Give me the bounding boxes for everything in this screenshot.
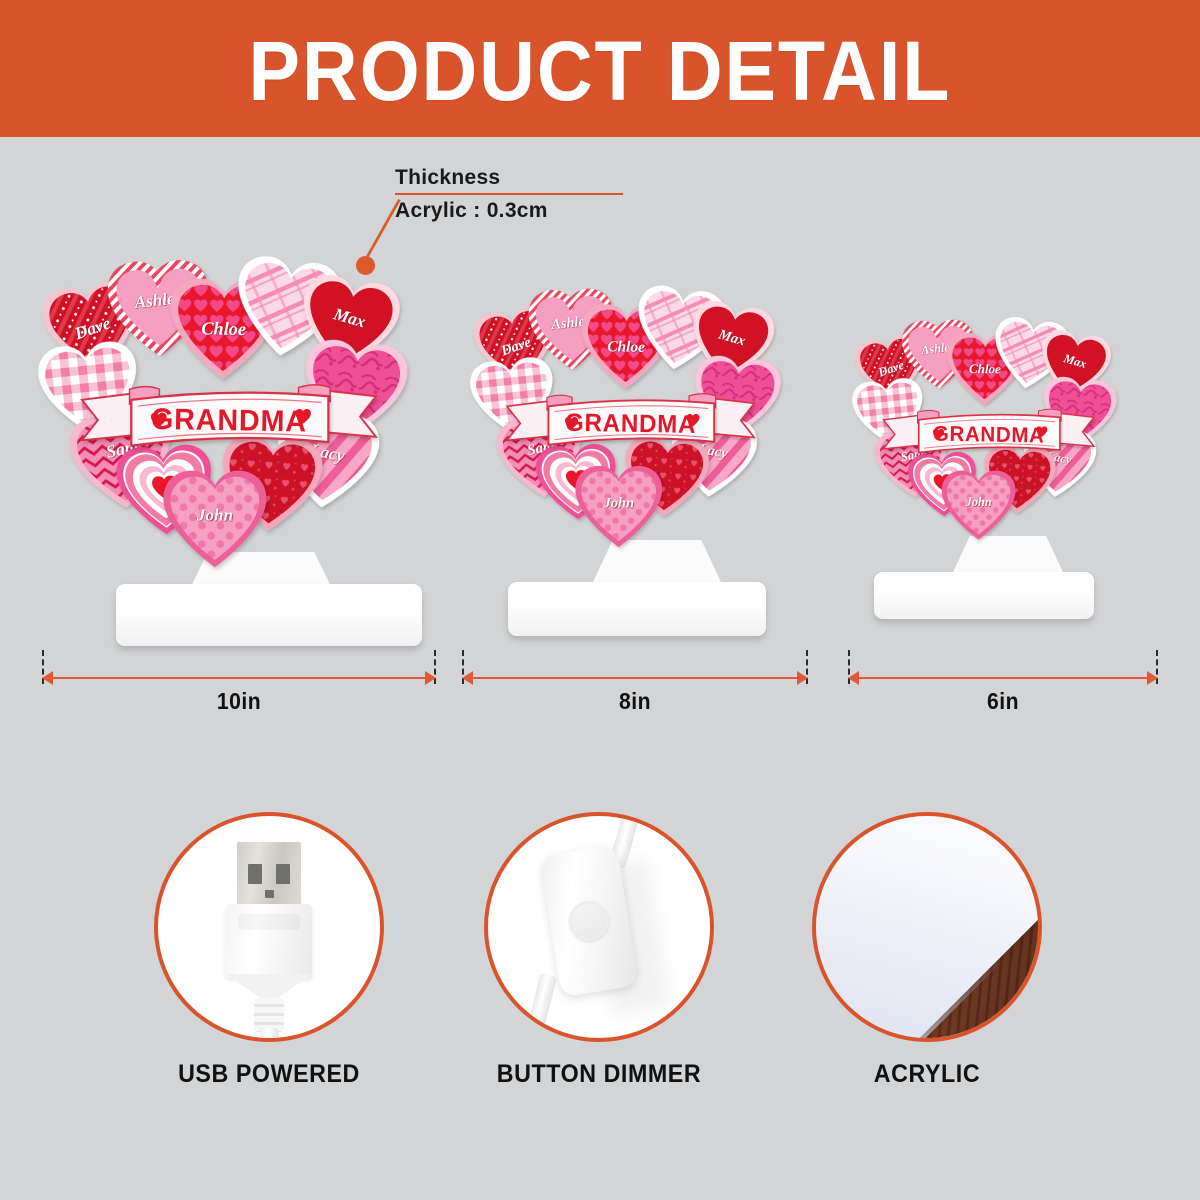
feature-usb-powered: USB POWERED (114, 812, 424, 1089)
heart-john: John (574, 464, 664, 547)
heart-john: John (161, 468, 268, 567)
lamp-base (116, 584, 422, 646)
product-lamp-6in: Dave Ashley (852, 314, 1123, 585)
heart-arrangement: Dave Ashley (470, 282, 788, 556)
page-title: PRODUCT DETAIL (249, 29, 952, 113)
banner-title-text: GRANDMA (151, 402, 307, 439)
callout-divider (395, 193, 623, 195)
thickness-label: Thickness (395, 165, 655, 191)
feature-label-acrylic: ACRYLIC (783, 1060, 1071, 1089)
product-lamp-8in: Dave Ashley (470, 282, 788, 600)
heart-john: John (940, 469, 1017, 540)
feature-acrylic: ACRYLIC (772, 812, 1082, 1089)
name-banner: GRANDMA (503, 387, 759, 455)
product-detail-page: PRODUCT DETAIL Thickness Acrylic : 0.3cm (0, 0, 1200, 1200)
product-lamp-10in: Dave Ashley (38, 252, 416, 630)
heart-arrangement: Dave Ashley (852, 314, 1123, 547)
name-banner: GRANDMA (77, 377, 381, 458)
banner-title-text: GRANDMA (933, 422, 1045, 449)
dimension-label-8in: 8in (476, 688, 794, 715)
thickness-value: Acrylic : 0.3cm (395, 197, 655, 225)
heart-arrangement: Dave Ashley (38, 252, 416, 578)
name-banner: GRANDMA (880, 403, 1098, 461)
dimension-label-10in: 10in (58, 688, 420, 715)
page-header: PRODUCT DETAIL (0, 0, 1200, 137)
lamp-base (508, 582, 766, 636)
banner-title-text: GRANDMA (565, 409, 697, 440)
feature-label-usb: USB POWERED (125, 1060, 413, 1089)
feature-button-dimmer: BUTTON DIMMER (444, 812, 754, 1089)
dimension-label-6in: 6in (860, 688, 1145, 715)
lamp-base (874, 572, 1094, 619)
usb-connector-icon (154, 812, 384, 1042)
feature-label-dimmer: BUTTON DIMMER (455, 1060, 743, 1089)
thickness-callout: Thickness Acrylic : 0.3cm (395, 165, 655, 225)
acrylic-sheet-icon (812, 812, 1042, 1042)
inline-dimmer-switch-icon (484, 812, 714, 1042)
